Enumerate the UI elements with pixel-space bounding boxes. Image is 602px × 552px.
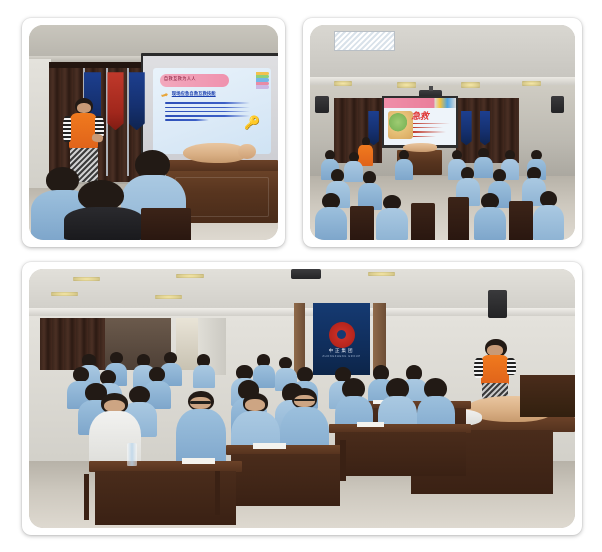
projector-mount	[429, 86, 433, 90]
attendee-shoulders	[395, 159, 414, 180]
instructor-sleeve-left	[63, 116, 71, 142]
notepaper	[182, 458, 215, 464]
desk-front-row1b	[231, 454, 340, 506]
instructor-arm	[92, 133, 104, 142]
flag-blue-2	[129, 72, 145, 130]
instructor-vest	[69, 113, 98, 149]
instructor-sleeve-right	[507, 358, 517, 375]
downlight-5	[368, 272, 395, 276]
ceiling-light-panel	[334, 31, 395, 50]
photo-bottom[interactable]: 中正集团 ZHONGZHENG GROUP	[22, 262, 582, 535]
instructor-vest	[481, 355, 509, 385]
attendee	[533, 191, 565, 240]
slide-body-lines	[413, 123, 451, 140]
water-bottle	[127, 443, 137, 466]
attendee-shoulders	[376, 208, 408, 240]
arrow-icon: ➥	[160, 89, 171, 102]
photo-top-left[interactable]: 自救互救为人人 ➥ 现场应急自救互救技能 🔑	[22, 18, 285, 247]
photo-collage: 自救互救为人人 ➥ 现场应急自救互救技能 🔑	[0, 0, 602, 552]
chair-leg	[340, 440, 345, 481]
speaker-right	[551, 96, 564, 113]
slide-header-band	[384, 98, 456, 108]
notepaper	[357, 422, 384, 427]
glasses-icon	[294, 399, 315, 402]
flag-blue-2	[461, 111, 472, 145]
downlight-3	[176, 274, 203, 278]
instructor-face	[77, 103, 91, 113]
photo-top-right[interactable]: 急救	[303, 18, 582, 247]
chair-back	[509, 201, 533, 240]
company-logo-icon	[329, 322, 355, 348]
attendee	[315, 193, 347, 240]
downlight-2	[397, 82, 416, 88]
slide-content: 急救	[384, 98, 456, 145]
slide-header-band: 自救互救为人人	[160, 74, 229, 87]
chair-back	[411, 203, 435, 240]
scene-instructor-at-screen: 自救互救为人人 ➥ 现场应急自救互救技能 🔑	[29, 25, 278, 240]
corporate-banner: 中正集团 ZHONGZHENG GROUP	[313, 303, 370, 376]
glasses-icon	[190, 401, 211, 404]
flag-blue-3	[480, 111, 491, 145]
manikin-head	[238, 144, 255, 159]
attendee-shoulders	[533, 205, 565, 240]
attendee-face	[104, 400, 126, 412]
chair-leg	[84, 474, 89, 521]
downlight-4	[155, 295, 182, 299]
attendee-front-glasses	[176, 391, 225, 469]
speaker-left	[315, 96, 328, 113]
slide-header-text: 自救互救为人人	[160, 74, 229, 81]
instructor-sleeve-left	[474, 358, 483, 379]
slide-accent-text: 急救	[411, 109, 428, 122]
attendee-torso	[193, 365, 215, 388]
downlight-3	[461, 82, 480, 88]
attendee	[376, 195, 408, 240]
chair-leg	[215, 471, 220, 515]
scene-classroom-wide-angle: 中正集团 ZHONGZHENG GROUP	[29, 269, 575, 528]
downlight-1	[51, 292, 78, 296]
attendee-shoulders	[474, 207, 506, 240]
downlight-4	[522, 81, 541, 87]
attendee-shoulders	[315, 207, 347, 240]
banner-chinese-name: 中正集团	[313, 348, 370, 354]
downlight-1	[334, 81, 353, 87]
desk-front-row2	[335, 432, 466, 476]
audience-shoulders	[64, 207, 144, 240]
first-aid-illustration	[388, 111, 413, 139]
banner-english-name: ZHONGZHENG GROUP	[313, 355, 370, 358]
attendee	[474, 193, 506, 240]
slide-tab-stack	[256, 72, 269, 89]
attendee	[193, 354, 215, 388]
chair-back	[141, 208, 191, 240]
key-icon: 🔑	[244, 116, 261, 145]
ceiling-projector	[291, 269, 321, 279]
downlight-2	[73, 277, 100, 281]
wall-speaker	[488, 290, 507, 318]
slide-content: 自救互救为人人 ➥ 现场应急自救互救技能 🔑	[153, 68, 271, 154]
chair-back	[448, 197, 469, 240]
projection-screen-frame: 急救	[382, 96, 459, 148]
curtain-valance	[49, 62, 149, 68]
audience-member-back-front	[64, 180, 144, 240]
side-cabinet	[520, 375, 575, 416]
notepaper	[253, 443, 286, 449]
adult-cpr-manikin	[183, 143, 245, 162]
scene-wide-room-view: 急救	[310, 25, 575, 240]
chair-back	[350, 206, 374, 240]
slide-title-text: 现场应急自救互救技能	[172, 91, 216, 97]
slide-body-lines	[165, 102, 250, 123]
attendee	[395, 150, 414, 180]
